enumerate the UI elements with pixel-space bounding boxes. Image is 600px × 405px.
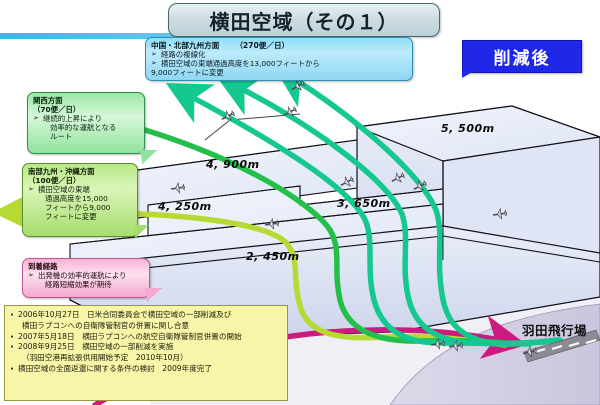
page-title: 横田空域（その１） bbox=[168, 3, 440, 37]
callout-subline: 通過高度を15,000 bbox=[28, 194, 132, 203]
altitude-label-2450: 2, 450m bbox=[246, 250, 300, 263]
callout-subline: フィートに変更 bbox=[28, 212, 132, 221]
callout-flight-count: （70便／日） bbox=[33, 105, 139, 114]
note-continuation: （羽田空港再拡張供用開始予定 2010年10月） bbox=[9, 353, 283, 364]
callout-bullet: 経路の複線化 bbox=[151, 50, 407, 59]
callout-china-north-kyushu: 中国・北部九州方面 （270便／日） 経路の複線化 横田空域の東端通過高度を13… bbox=[145, 37, 413, 81]
note-item: 2006年10月27日 日米合同委員会で横田空域の一部削減及び bbox=[9, 310, 283, 321]
callout-bullet: 横田空域の東端通過高度を13,000フィートから bbox=[151, 59, 407, 68]
callout-continuation: 9,000フィートに変更 bbox=[151, 68, 407, 77]
callout-subline: ルート bbox=[33, 132, 139, 141]
callout-header: 到着経路 bbox=[28, 262, 144, 271]
altitude-label-4250: 4, 250m bbox=[158, 200, 212, 213]
callout-south-kyushu-okinawa: 南部九州・沖縄方面 （100便／日） 横田空域の東端 通過高度を15,000 フ… bbox=[22, 163, 138, 237]
callout-subline: 効率的な運航となる bbox=[33, 123, 139, 132]
note-item: 2008年9月25日 横田空域の一部削減を実施 bbox=[9, 342, 283, 353]
callout-bullet: 横田空域の東端 bbox=[28, 185, 132, 194]
callout-subline: フィートから9,000 bbox=[28, 203, 132, 212]
status-badge-label: 削減後 bbox=[494, 44, 551, 69]
callout-flight-count: （270便／日） bbox=[235, 41, 289, 50]
callout-bullet: 出発機の効率的運航により bbox=[28, 271, 144, 280]
altitude-label-3650: 3, 650m bbox=[337, 197, 391, 210]
diagram-canvas: 横田空域（その１） 削減後 中国・北部九州方面 （270便／日） 経路の複線化 … bbox=[0, 0, 600, 405]
callout-flight-count: （100便／日） bbox=[28, 176, 132, 185]
note-item: 2007年5月18日 横田ラプコンへの航空自衛隊管制官併置の開始 bbox=[9, 332, 283, 343]
altitude-label-4900: 4, 900m bbox=[206, 158, 260, 171]
callout-header: 中国・北部九州方面 bbox=[151, 41, 219, 50]
notes-panel: 2006年10月27日 日米合同委員会で横田空域の一部削減及び 横田ラプコンへの… bbox=[4, 305, 288, 401]
altitude-label-5500: 5, 500m bbox=[441, 122, 495, 135]
note-item: 横田空域の全面返還に関する条件の検討 2009年度完了 bbox=[9, 364, 283, 375]
note-continuation: 横田ラプコンへの自衛隊管制官の併置に関し合意 bbox=[9, 321, 283, 332]
callout-arrival-route: 到着経路 出発機の効率的運航により 経路短縮効果が期待 bbox=[22, 258, 150, 298]
callout-header: 関西方面 bbox=[33, 96, 139, 105]
callout-header-row: 中国・北部九州方面 （270便／日） bbox=[151, 41, 407, 50]
callout-subline: 経路短縮効果が期待 bbox=[28, 280, 144, 289]
airport-label-haneda: 羽田飛行場 bbox=[522, 320, 587, 339]
callout-kansai: 関西方面 （70便／日） 継続的上昇により 効率的な運航となる ルート bbox=[27, 92, 145, 154]
status-badge-after-reduction: 削減後 bbox=[462, 40, 582, 73]
callout-bullet: 継続的上昇により bbox=[33, 114, 139, 123]
callout-header: 南部九州・沖縄方面 bbox=[28, 167, 132, 176]
page-title-text: 横田空域（その１） bbox=[210, 6, 399, 35]
